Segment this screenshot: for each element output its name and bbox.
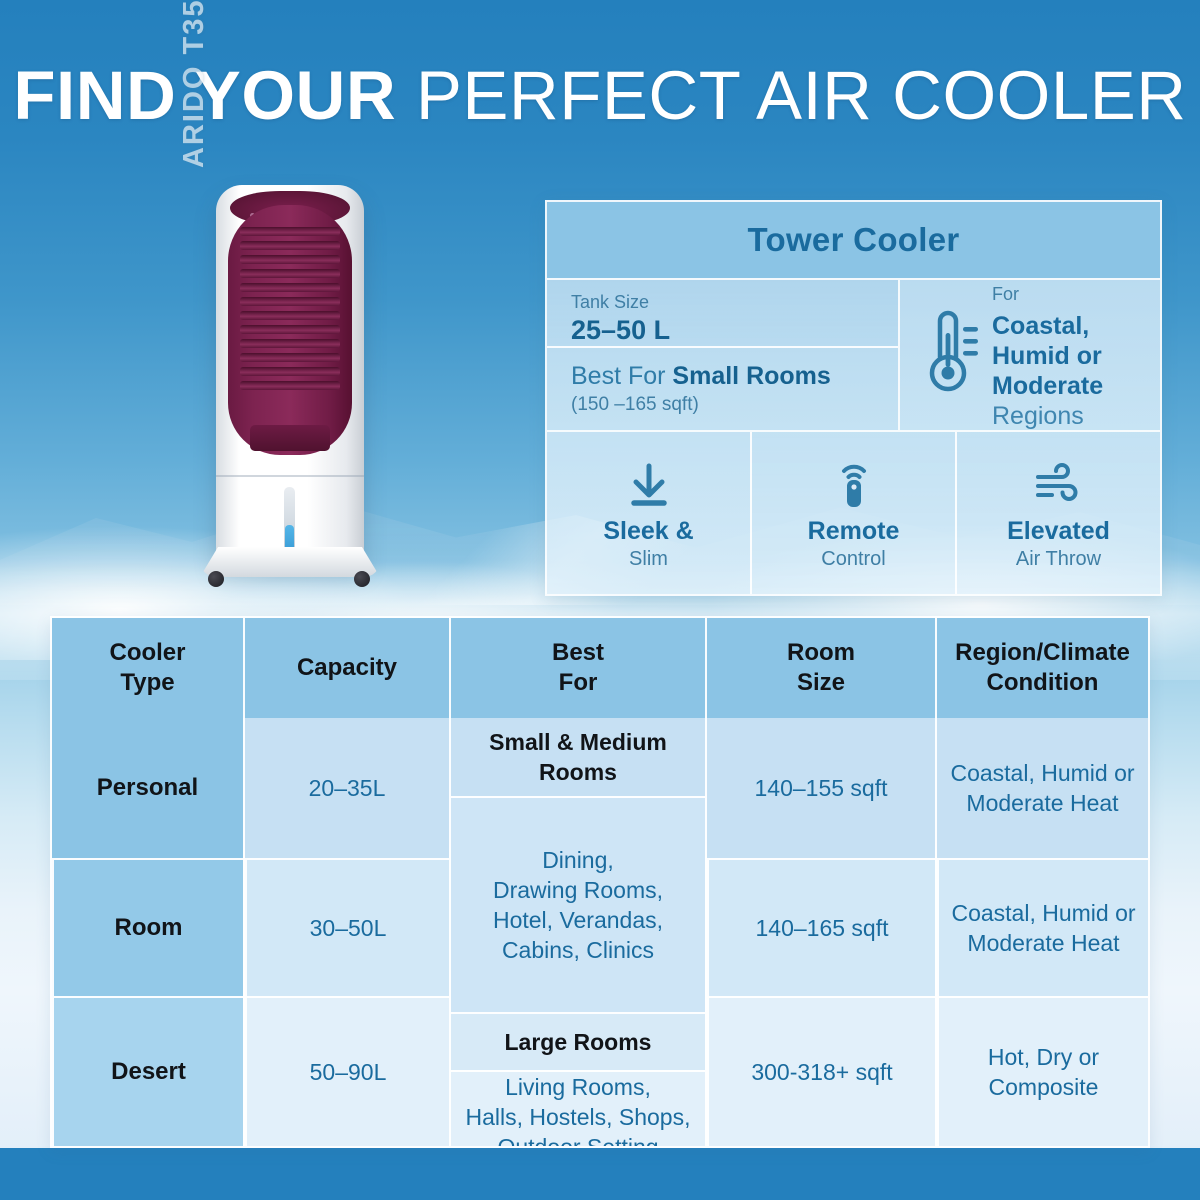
table-cell: 30–50L [245,858,449,996]
header-best-for-line1: Best [552,639,604,666]
header-capacity-text: Capacity [297,653,397,683]
column-room-size: 140–155 sqft 140–165 sqft 300-318+ sqft [705,718,935,1148]
cooler-comparison-table: CoolerType Capacity BestFor RoomSize Reg… [50,616,1150,1148]
tower-specs-left: Tank Size 25–50 L Best For Small Rooms (… [547,280,900,430]
cooler-base [200,547,380,577]
cell-room-size-personal: 140–155 sqft [754,773,887,803]
bf-3-line1: Large Rooms [505,1027,652,1057]
header-region-line1: Region/Climate [955,639,1130,666]
page-title-light: PERFECT AIR COOLER [416,57,1187,134]
page-title-bold: FIND YOUR [13,57,415,134]
region-strong-line-3: Moderate [992,371,1103,401]
download-arrow-icon [622,454,676,516]
tower-cooler-heading: Tower Cooler [547,202,1160,280]
bf-2-line2: Drawing Rooms, [493,877,663,903]
cell-capacity-personal: 20–35L [309,773,386,803]
region-strong-line-1: Coastal, [992,311,1103,341]
best-for-block-head-1: Small & MediumRooms [451,718,705,796]
region-text-block: For Coastal, Humid or Moderate Regions [992,279,1103,431]
header-room-size-line2: Size [797,669,845,696]
bf-4-line3: Outdoor Setting [497,1134,658,1148]
tank-size-cell: Tank Size 25–50 L [547,280,898,348]
cell-room-size-room: 140–165 sqft [755,913,888,943]
region-tail-text: Regions [992,401,1103,431]
cell-region-desert-line2: Composite [989,1074,1099,1100]
region-cell: For Coastal, Humid or Moderate Regions [900,280,1160,430]
tank-size-label: Tank Size [571,290,898,314]
table-row: Desert [52,996,243,1146]
best-for-strong: Small Rooms [672,362,830,390]
column-header-region-climate: Region/ClimateCondition [935,618,1148,718]
feature-remote-main: Remote [808,516,900,546]
table-cell: Coastal, Humid orModerate Heat [937,858,1148,996]
header-room-size-line1: Room [787,639,855,666]
cell-type-personal: Personal [97,774,198,802]
table-row: Room [52,858,243,996]
bf-4-line1: Living Rooms, [505,1074,651,1100]
bf-1-line2: Rooms [539,759,617,785]
cooler-louvers [240,227,340,413]
header-cooler-type-line1: Cooler [109,639,185,666]
best-for-prefix: Best For [571,362,672,390]
column-header-best-for: BestFor [449,618,705,718]
cooler-caster-right [354,571,370,587]
cell-region-room-line2: Moderate Heat [967,930,1119,956]
cell-type-desert: Desert [111,1058,186,1086]
best-for-line: Best For Small Rooms [571,360,898,392]
best-for-subtext: (150 –165 sqft) [571,392,898,418]
best-for-cell: Best For Small Rooms (150 –165 sqft) [547,348,898,430]
feature-remote-control[interactable]: Remote Control [750,432,955,594]
table-header-row: CoolerType Capacity BestFor RoomSize Reg… [52,618,1148,718]
feature-sleek-slim-sub: Slim [629,546,668,572]
table-cell: 140–155 sqft [707,718,935,858]
table-cell: 50–90L [245,996,449,1146]
wind-air-throw-icon [1030,454,1088,516]
cell-capacity-desert: 50–90L [310,1057,387,1087]
feature-elevated-air-throw[interactable]: Elevated Air Throw [955,432,1160,594]
best-for-block-head-2: Large Rooms [451,1012,705,1070]
table-cell: 140–165 sqft [707,858,935,996]
cooler-tank-seam [216,475,364,477]
feature-elevated-main: Elevated [1007,516,1110,546]
bf-2-line4: Cabins, Clinics [502,937,654,963]
best-for-block-body-1: Dining, Drawing Rooms, Hotel, Verandas, … [451,796,705,1012]
tower-cooler-card: Tower Cooler Tank Size 25–50 L Best For … [545,200,1162,596]
cooler-caster-left [208,571,224,587]
table-cell: Coastal, Humid orModerate Heat [937,718,1148,858]
table-row: Personal [52,718,243,858]
bf-4-line2: Halls, Hostels, Shops, [466,1104,691,1130]
column-header-cooler-type: CoolerType [52,618,243,718]
header-best-for-line2: For [559,669,598,696]
tower-cooler-specs: Tank Size 25–50 L Best For Small Rooms (… [547,280,1160,430]
thermometer-icon [918,307,980,404]
tower-cooler-heading-text: Tower Cooler [747,221,959,259]
remote-control-icon [827,454,881,516]
region-for-label: For [992,284,1019,304]
table-cell: 20–35L [245,718,449,858]
column-header-room-size: RoomSize [705,618,935,718]
feature-sleek-slim[interactable]: Sleek & Slim [547,432,750,594]
cell-capacity-room: 30–50L [310,913,387,943]
bf-2-line3: Hotel, Verandas, [493,907,663,933]
table-cell: Hot, Dry orComposite [937,996,1148,1146]
best-for-block-body-2: Living Rooms, Halls, Hostels, Shops, Out… [451,1070,705,1148]
bf-1-line1: Small & Medium [489,729,667,755]
header-region-line2: Condition [987,669,1099,696]
column-capacity: 20–35L 30–50L 50–90L [243,718,449,1148]
column-region-climate: Coastal, Humid orModerate Heat Coastal, … [935,718,1148,1148]
tank-size-value: 25–50 L [571,314,898,346]
feature-remote-sub: Control [821,546,885,572]
cell-room-size-desert: 300-318+ sqft [751,1057,892,1087]
product-model-label: ARIDO T35 DG [178,0,211,168]
table-cell: 300-318+ sqft [707,996,935,1146]
cooler-lower-flap [250,425,330,451]
cell-region-room-line1: Coastal, Humid or [951,900,1135,926]
tower-cooler-features: Sleek & Slim Remote Control [547,430,1160,594]
feature-elevated-sub: Air Throw [1016,546,1101,572]
product-image [178,175,448,595]
column-cooler-type: Personal Room Desert [52,718,243,1148]
region-strong-line-2: Humid or [992,341,1103,371]
feature-sleek-slim-main: Sleek & [603,516,693,546]
footer-strip [0,1148,1200,1200]
cell-region-personal-line1: Coastal, Humid or [950,760,1134,786]
cell-type-room: Room [115,914,183,942]
bf-2-line1: Dining, [542,847,614,873]
header-cooler-type-line2: Type [120,669,174,696]
cell-region-personal-line2: Moderate Heat [966,790,1118,816]
cell-region-desert-line1: Hot, Dry or [988,1044,1099,1070]
column-header-capacity: Capacity [243,618,449,718]
column-best-for: Small & MediumRooms Dining, Drawing Room… [449,718,705,1148]
